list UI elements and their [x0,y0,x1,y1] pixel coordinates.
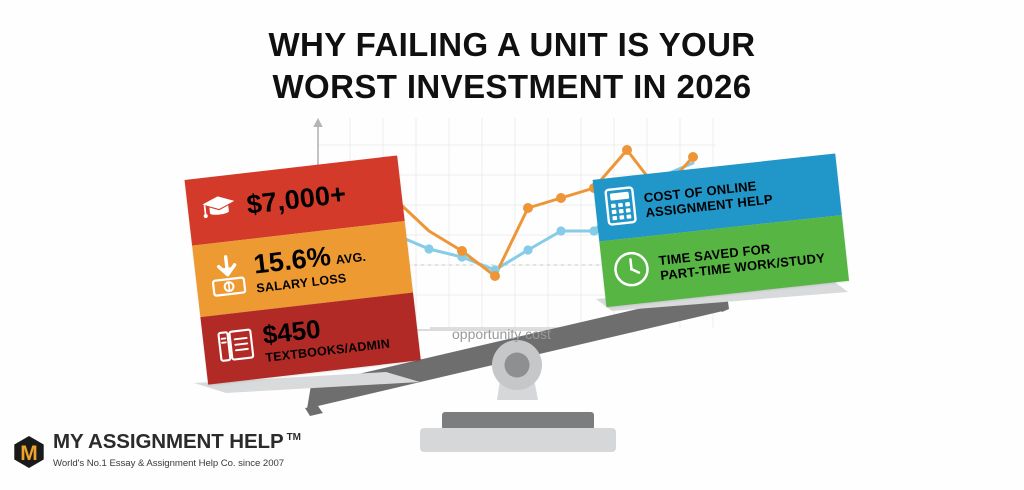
logo-hexagon-mark-icon: M [12,435,46,469]
infographic-canvas: WHY FAILING A UNIT IS YOUR WORST INVESTM… [0,0,1024,490]
clock-icon [611,248,653,295]
books-icon [216,326,256,369]
benefit-card-stack: COST OF ONLINE ASSIGNMENT HELP TIME SAVE… [593,153,856,329]
brand-logo[interactable]: M MY ASSIGNMENT HELP TM World's No.1 Ess… [12,432,301,471]
opportunity-cost-label: opportunity cost [452,326,551,342]
logo-wordmark: MY ASSIGNMENT HELP TM [53,432,301,453]
cost-card-textbooks-value: $450 [261,313,322,349]
title-line-2: WORST INVESTMENT IN 2026 [0,66,1024,108]
cost-card-tuition-value: $7,000+ [245,179,348,220]
title-line-1: WHY FAILING A UNIT IS YOUR [268,26,755,63]
cost-card-stack: $7,000+ 15.6% AVG. SALARY LOSS [184,147,440,397]
page-title: WHY FAILING A UNIT IS YOUR WORST INVESTM… [0,24,1024,108]
logo-mark-letter: M [20,442,38,465]
logo-name: MY ASSIGNMENT HELP [53,432,284,453]
calculator-icon [604,185,638,231]
money-down-arrow-icon [207,251,248,304]
logo-trademark: TM [287,433,301,443]
logo-tagline: World's No.1 Essay & Assignment Help Co.… [53,458,284,469]
graduation-cap-icon [200,192,237,227]
